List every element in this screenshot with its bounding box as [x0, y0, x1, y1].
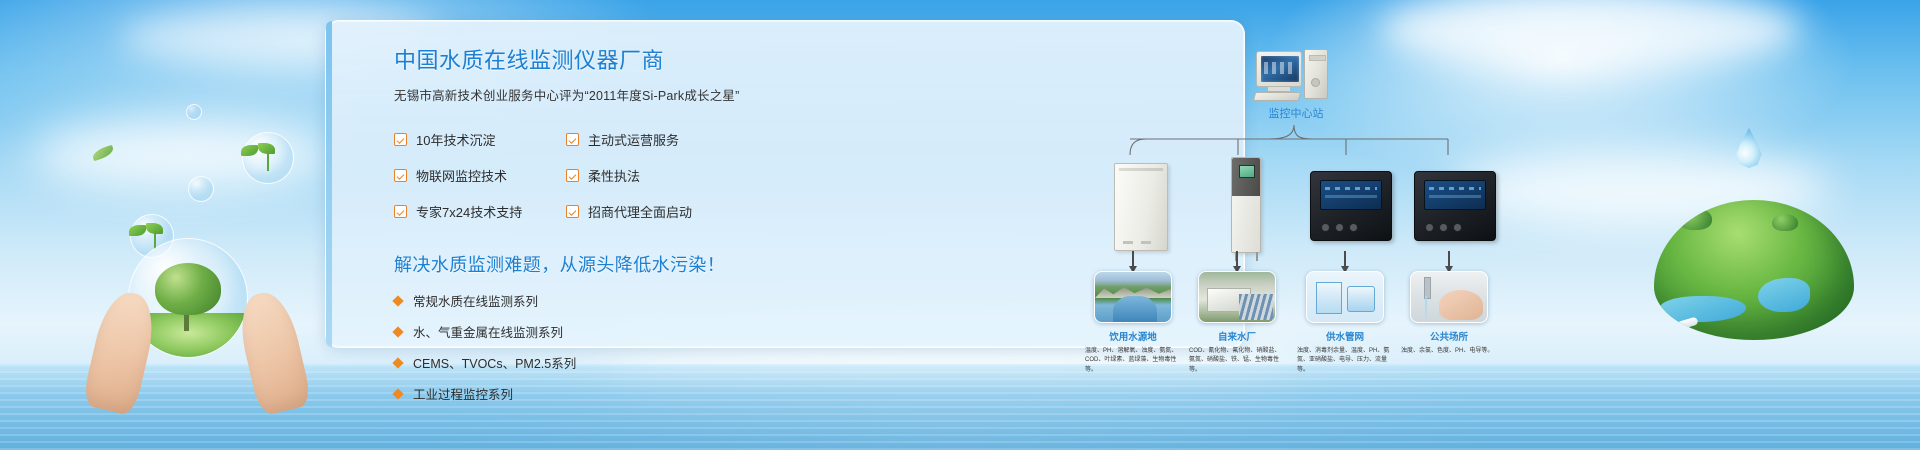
button-row [1321, 223, 1358, 232]
screen [1424, 180, 1486, 210]
checklist-label: 专家7x24技术支持 [416, 202, 522, 221]
photo-water-plant [1198, 271, 1276, 323]
diamond-bullet-icon [392, 295, 403, 306]
leaf-left [241, 145, 258, 156]
scene-parameters: COD、氰化物、氟化物、硝酸盐、氨氮、硝酸盐、铁、锰、生物毒性等。 [1189, 347, 1285, 375]
connector-lines [1086, 121, 1566, 169]
checklist-item: 柔性执法 [566, 166, 794, 185]
list-item-label: CEMS、TVOCs、PM2.5系列 [413, 353, 576, 372]
leaf-icon [91, 145, 115, 161]
scene-parameters: 温度、PH、溶解氧、浊度、氨氮、COD、叶绿素、蓝绿藻、生物毒性等。 [1085, 347, 1181, 375]
bubble-small [186, 104, 202, 120]
hand [1439, 290, 1483, 320]
hands-tree-bubble-illustration [70, 96, 340, 396]
green-earth-illustration [1616, 128, 1906, 358]
checklist-item: 物联网监控技术 [394, 166, 566, 185]
analyzer-body [1414, 171, 1496, 241]
panel-accent-bar [326, 21, 332, 347]
pc-tower [1304, 49, 1328, 99]
tree-icon [1772, 214, 1798, 231]
diamond-bullet-icon [392, 357, 403, 368]
bubble-sprout [242, 132, 294, 184]
water-quality-banner: 中国水质在线监测仪器厂商 无锡市高新技术创业服务中心评为“2011年度Si-Pa… [0, 0, 1920, 450]
monitoring-center-computer-icon [1256, 49, 1332, 103]
river [1660, 296, 1746, 322]
system-topology-diagram: 监控中心站 [1086, 43, 1566, 363]
scene-caption: 饮用水源地 [1094, 329, 1172, 343]
scene-card: 饮用水源地 温度、PH、溶解氧、浊度、氨氮、COD、叶绿素、蓝绿藻、生物毒性等。 [1094, 271, 1172, 375]
section-subheading: 解决水质监测难题，从源头降低水污染！ [394, 251, 794, 277]
tree-canopy [155, 263, 221, 315]
cabinet-body [1114, 163, 1168, 251]
scene-card: 公共场所 浊度、余氯、色度、PH、电导等。 [1410, 271, 1488, 356]
monitor [1256, 51, 1302, 87]
list-item-label: 水、气重金属在线监测系列 [413, 322, 563, 341]
list-item: 水、气重金属在线监测系列 [394, 322, 794, 341]
checkbox-icon [566, 133, 579, 146]
screen [1239, 165, 1255, 178]
diamond-bullet-icon [392, 326, 403, 337]
scene-card: 供水管网 浊度、消毒剂余量、温度、PH、氨氮、亚硝酸盐、电导、压力、流量等。 [1306, 271, 1384, 375]
bubble-small [188, 176, 214, 202]
control-button[interactable] [1349, 223, 1358, 232]
control-button[interactable] [1439, 223, 1448, 232]
feature-checklist: 10年技术沉淀 主动式运营服务 物联网监控技术 柔性执法 专家7x24技术支持 [394, 130, 794, 221]
control-button[interactable] [1453, 223, 1462, 232]
checkbox-icon [394, 169, 407, 182]
page-subtitle: 无锡市高新技术创业服务中心评为“2011年度Si-Park成长之星” [394, 85, 794, 104]
arrow-down-icon [1448, 251, 1450, 267]
list-item: 工业过程监控系列 [394, 384, 794, 403]
arrow-down-icon [1236, 251, 1238, 267]
screen [1261, 56, 1299, 82]
photo-public-place [1410, 271, 1488, 323]
checkbox-icon [394, 133, 407, 146]
scene-caption: 自来水厂 [1198, 329, 1276, 343]
checklist-item: 主动式运营服务 [566, 130, 794, 149]
stem [267, 153, 269, 171]
lake [1758, 278, 1810, 312]
checklist-label: 主动式运营服务 [588, 130, 679, 149]
checklist-label: 物联网监控技术 [416, 166, 507, 185]
analyzer-body [1310, 171, 1392, 241]
checklist-item: 专家7x24技术支持 [394, 202, 566, 221]
scene-card: 自来水厂 COD、氰化物、氟化物、硝酸盐、氨氮、硝酸盐、铁、锰、生物毒性等。 [1198, 271, 1276, 375]
scene-caption: 公共场所 [1410, 329, 1488, 343]
checklist-item: 招商代理全面启动 [566, 202, 794, 221]
checklist-label: 招商代理全面启动 [588, 202, 692, 221]
checkbox-icon [566, 169, 579, 182]
copy-column: 中国水质在线监测仪器厂商 无锡市高新技术创业服务中心评为“2011年度Si-Pa… [394, 43, 794, 403]
sprout-icon [257, 145, 277, 171]
scene-parameters: 浊度、余氯、色度、PH、电导等。 [1401, 347, 1497, 356]
checklist-label: 10年技术沉淀 [416, 130, 495, 149]
column-body [1231, 157, 1261, 253]
scene-caption: 供水管网 [1306, 329, 1384, 343]
list-item: 常规水质在线监测系列 [394, 291, 794, 310]
content-panel: 中国水质在线监测仪器厂商 无锡市高新技术创业服务中心评为“2011年度Si-Pa… [325, 20, 1245, 348]
control-button[interactable] [1335, 223, 1344, 232]
product-series-list: 常规水质在线监测系列 水、气重金属在线监测系列 CEMS、TVOCs、PM2.5… [394, 291, 794, 403]
button-row [1425, 223, 1462, 232]
scene-parameters: 浊度、消毒剂余量、温度、PH、氨氮、亚硝酸盐、电导、压力、流量等。 [1297, 347, 1393, 375]
checklist-item: 10年技术沉淀 [394, 130, 566, 149]
screen [1320, 180, 1382, 210]
tree-icon [1678, 208, 1712, 230]
photo-drinking-water-source [1094, 271, 1172, 323]
list-item: CEMS、TVOCs、PM2.5系列 [394, 353, 794, 372]
control-button[interactable] [1425, 223, 1434, 232]
center-station-label: 监控中心站 [1226, 105, 1366, 121]
checkbox-icon [394, 205, 407, 218]
arrow-down-icon [1132, 251, 1134, 267]
water-droplet-icon [1734, 128, 1764, 168]
list-item-label: 工业过程监控系列 [413, 384, 513, 403]
keyboard-icon [1253, 92, 1302, 101]
diamond-bullet-icon [392, 388, 403, 399]
list-item-label: 常规水质在线监测系列 [413, 291, 538, 310]
page-title: 中国水质在线监测仪器厂商 [394, 43, 794, 75]
green-earth [1654, 200, 1854, 340]
photo-water-network [1306, 271, 1384, 323]
checklist-label: 柔性执法 [588, 166, 640, 185]
column-head [1232, 158, 1260, 196]
monitor-base [1268, 87, 1290, 91]
arrow-down-icon [1344, 251, 1346, 267]
leaf-left [129, 225, 146, 236]
control-button[interactable] [1321, 223, 1330, 232]
checkbox-icon [566, 205, 579, 218]
